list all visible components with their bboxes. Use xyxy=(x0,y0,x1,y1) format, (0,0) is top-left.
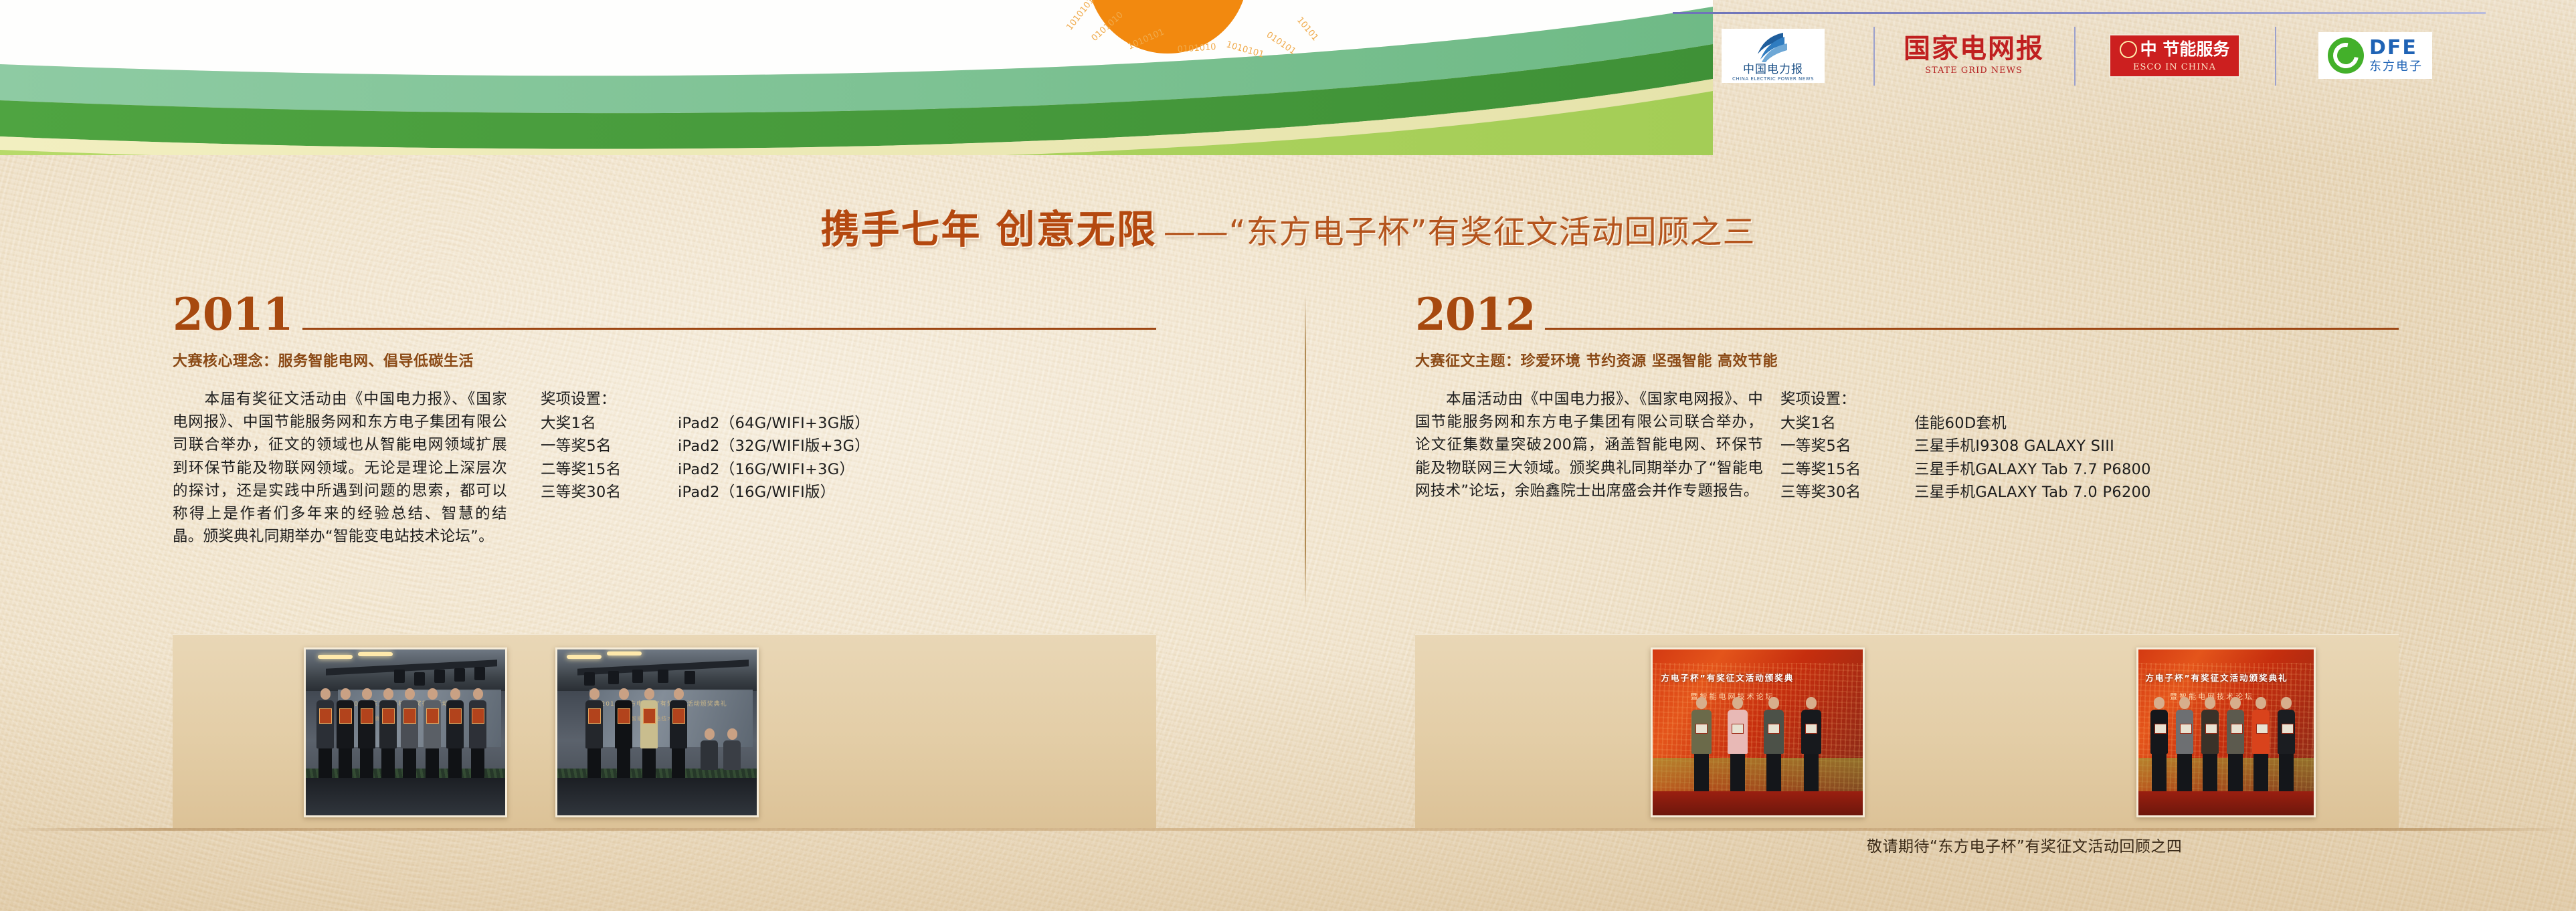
photo-backdrop-text: 方电子杯”有奖征文活动颁奖典礼 xyxy=(2145,671,2310,684)
prize-list-2011: 奖项设置： 大奖1名 iPad2（64G∕WIFI+3G版） 一等奖5名 iPa… xyxy=(541,388,870,548)
page-title: 携手七年 创意无限——“东方电子杯”有奖征文活动回顾之三 xyxy=(0,198,2576,254)
photo-2011-award-ceremony-1: 2011“东方电子杯”有奖征文活动 颁奖典礼 xyxy=(304,647,507,817)
section-subtitle-2011: 大赛核心理念：服务智能电网、倡导低碳生活 xyxy=(173,349,1156,371)
prize-row: 大奖1名 iPad2（64G∕WIFI+3G版） xyxy=(541,412,870,435)
photo-strip-2011: 2011“东方电子杯”有奖征文活动 颁奖典礼 xyxy=(173,634,1156,828)
prize-value: 佳能60D套机 xyxy=(1914,412,2007,435)
prize-name: 一等奖5名 xyxy=(1780,435,1914,458)
page-title-sub: ——“东方电子杯”有奖征文活动回顾之三 xyxy=(1164,213,1756,251)
logo4-cn: 东方电子 xyxy=(2369,61,2423,73)
prize-value: 三星手机I9308 GALAXY SIII xyxy=(1914,435,2114,458)
prize-list-2012: 奖项设置： 大奖1名 佳能60D套机 一等奖5名 三星手机I9308 GALAX… xyxy=(1780,388,2151,504)
logo2-cn: 国家电网报 xyxy=(1904,35,2044,62)
logo-esco-in-china: 中 节能服务 ESCO IN CHINA xyxy=(2074,24,2275,87)
sponsor-logo-bar: 中国电力报 CHINA ELECTRIC POWER NEWS 国家电网报 ST… xyxy=(1673,12,2556,87)
photo-backdrop-text: 方电子杯”有奖征文活动颁奖典 xyxy=(1661,671,1859,684)
section-paragraph-2011: 本届有奖征文活动由《中国电力报》、《国家电网报》、中国节能服务网和东方电子集团有… xyxy=(173,388,507,548)
section-paragraph-2012: 本届活动由《中国电力报》、《国家电网报》、中国节能服务网和东方电子集团有限公司联… xyxy=(1415,388,1763,504)
prize-header-2011: 奖项设置： xyxy=(541,388,870,411)
prize-row: 大奖1名 佳能60D套机 xyxy=(1780,412,2151,435)
prize-name: 二等奖15名 xyxy=(1780,458,1914,481)
dfe-e-icon xyxy=(2328,37,2364,74)
prize-name: 大奖1名 xyxy=(541,412,678,435)
year-rule-2012 xyxy=(1545,328,2399,330)
prize-value: iPad2（16G∕WIFI版） xyxy=(678,481,836,504)
prize-value: iPad2（64G∕WIFI+3G版） xyxy=(678,412,870,435)
year-label-2011: 2011 xyxy=(173,294,293,336)
logo1-en: CHINA ELECTRIC POWER NEWS xyxy=(1732,77,1814,82)
prize-value: iPad2（16G∕WIFI+3G） xyxy=(678,458,854,481)
prize-row: 一等奖5名 三星手机I9308 GALAXY SIII xyxy=(1780,435,2151,458)
photo-2012-award-ceremony-2: 方电子杯”有奖征文活动颁奖典礼 暨智能电网技术论坛 xyxy=(2136,647,2316,817)
footer-note: 敬请期待“东方电子杯”有奖征文活动回顾之四 xyxy=(1867,833,2182,856)
logo4-en: DFE xyxy=(2369,38,2423,58)
year-heading-2012: 2012 xyxy=(1415,288,2399,336)
column-divider xyxy=(1305,294,1306,607)
logo3-cn: 中 节能服务 xyxy=(2140,41,2230,58)
prize-name: 大奖1名 xyxy=(1780,412,1914,435)
photo-2012-award-ceremony-1: 方电子杯”有奖征文活动颁奖典 暨智能电网技术论坛 xyxy=(1651,647,1865,817)
section-2012: 2012 大赛征文主题：珍爱环境 节约资源 坚强智能 高效节能 本届活动由《中国… xyxy=(1415,288,2399,504)
logo1-cn: 中国电力报 xyxy=(1743,64,1803,76)
year-rule-2011 xyxy=(302,328,1156,330)
prize-value: 三星手机GALAXY Tab 7.7 P6800 xyxy=(1914,458,2151,481)
year-label-2012: 2012 xyxy=(1415,294,1536,336)
prize-value: iPad2（32G∕WIFI版+3G） xyxy=(678,435,870,458)
logo2-en: STATE GRID NEWS xyxy=(1925,66,2023,76)
header-decoration: 1010101 0101010 1010101 0101010 1010101 … xyxy=(0,0,1713,154)
prize-name: 三等奖30名 xyxy=(541,481,678,504)
logo-dongfang-electronics: DFE 东方电子 xyxy=(2275,24,2476,87)
esco-seal-icon xyxy=(2120,41,2137,58)
logo3-en: ESCO IN CHINA xyxy=(2133,62,2216,72)
logo-china-electric-power-news: 中国电力报 CHINA ELECTRIC POWER NEWS xyxy=(1673,24,1873,87)
photo-2011-award-ceremony-2: 2011“东方电子杯”有奖征文活动颁奖典礼 暨智能变电站技术论坛 xyxy=(555,647,759,817)
prize-name: 二等奖15名 xyxy=(541,458,678,481)
poster-page: 1010101 0101010 1010101 0101010 1010101 … xyxy=(0,0,2576,911)
prize-name: 一等奖5名 xyxy=(541,435,678,458)
cepn-mark-icon xyxy=(1754,31,1792,64)
prize-row: 二等奖15名 iPad2（16G∕WIFI+3G） xyxy=(541,458,870,481)
page-title-main: 携手七年 创意无限 xyxy=(821,207,1157,252)
footer-rule xyxy=(0,828,2576,831)
prize-row: 一等奖5名 iPad2（32G∕WIFI版+3G） xyxy=(541,435,870,458)
logo-bar-rule xyxy=(1673,12,2486,14)
section-2011: 2011 大赛核心理念：服务智能电网、倡导低碳生活 本届有奖征文活动由《中国电力… xyxy=(173,288,1156,548)
prize-row: 三等奖30名 iPad2（16G∕WIFI版） xyxy=(541,481,870,504)
section-subtitle-2012: 大赛征文主题：珍爱环境 节约资源 坚强智能 高效节能 xyxy=(1415,349,2399,371)
year-heading-2011: 2011 xyxy=(173,288,1156,336)
prize-row: 二等奖15名 三星手机GALAXY Tab 7.7 P6800 xyxy=(1780,458,2151,481)
logo-state-grid-news: 国家电网报 STATE GRID NEWS xyxy=(1873,24,2074,87)
prize-name: 三等奖30名 xyxy=(1780,481,1914,504)
prize-header-2012: 奖项设置： xyxy=(1780,388,2151,411)
photo-strip-2012: 方电子杯”有奖征文活动颁奖典 暨智能电网技术论坛 方电子杯”有奖征文活动颁奖典礼… xyxy=(1415,634,2399,828)
prize-value: 三星手机GALAXY Tab 7.0 P6200 xyxy=(1914,481,2151,504)
prize-row: 三等奖30名 三星手机GALAXY Tab 7.0 P6200 xyxy=(1780,481,2151,504)
